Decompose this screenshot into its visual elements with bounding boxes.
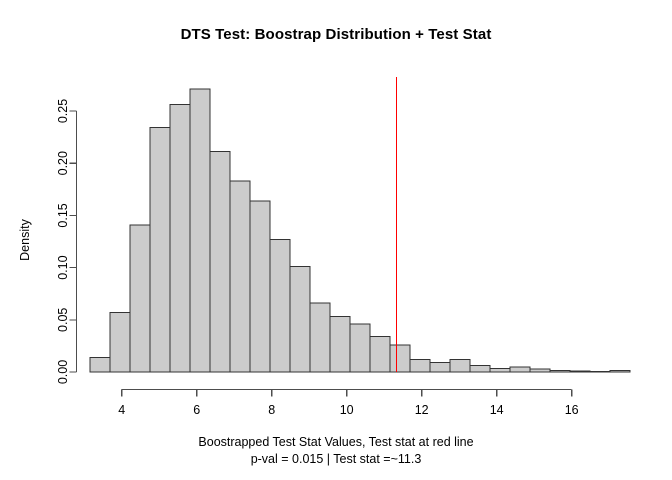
histogram-bar xyxy=(350,324,370,372)
histogram-bar xyxy=(510,367,530,372)
histogram-bar xyxy=(290,267,310,372)
histogram-bar xyxy=(90,357,110,372)
histogram-bar xyxy=(230,181,250,372)
histogram-bar xyxy=(310,303,330,372)
histogram-bar xyxy=(250,201,270,372)
x-axis-tick-label: 4 xyxy=(118,403,125,417)
histogram-bar xyxy=(410,359,430,372)
x-axis-tick-label: 14 xyxy=(490,403,504,417)
histogram-bar xyxy=(450,359,470,372)
histogram-bar xyxy=(130,225,150,372)
y-axis-tick-label: 0.05 xyxy=(56,308,70,332)
histogram-bar xyxy=(610,370,630,372)
x-axis-tick-label: 12 xyxy=(415,403,429,417)
histogram-bar xyxy=(370,337,390,373)
histogram-bar xyxy=(530,369,550,372)
histogram-bars xyxy=(90,89,630,372)
histogram-bar xyxy=(210,152,230,372)
histogram-bar xyxy=(150,128,170,372)
histogram-bar xyxy=(570,371,590,372)
y-axis-tick-label: 0.25 xyxy=(56,99,70,123)
x-axis: 46810121416 xyxy=(118,390,578,417)
histogram-bar xyxy=(550,370,570,372)
x-axis-tick-label: 8 xyxy=(268,403,275,417)
histogram-bar xyxy=(170,105,190,372)
y-axis-tick-label: 0.20 xyxy=(56,151,70,175)
chart-canvas: DTS Test: Boostrap Distribution + Test S… xyxy=(0,0,672,480)
histogram-bar xyxy=(590,371,610,372)
y-axis-tick-label: 0.10 xyxy=(56,255,70,279)
y-axis-tick-label: 0.00 xyxy=(56,360,70,384)
histogram-bar xyxy=(270,239,290,372)
histogram-bar xyxy=(470,366,490,372)
x-axis-tick-label: 16 xyxy=(565,403,579,417)
histogram-bar xyxy=(190,89,210,372)
plot-svg: 0.000.050.100.150.200.25 46810121416 xyxy=(0,0,672,480)
histogram-bar xyxy=(330,317,350,372)
histogram-bar xyxy=(390,345,410,372)
histogram-bar xyxy=(490,368,510,372)
histogram-bar xyxy=(110,312,130,372)
y-axis-tick-label: 0.15 xyxy=(56,203,70,227)
y-axis: 0.000.050.100.150.200.25 xyxy=(56,99,77,384)
x-axis-tick-label: 6 xyxy=(193,403,200,417)
x-axis-tick-label: 10 xyxy=(340,403,354,417)
histogram-bar xyxy=(430,363,450,372)
